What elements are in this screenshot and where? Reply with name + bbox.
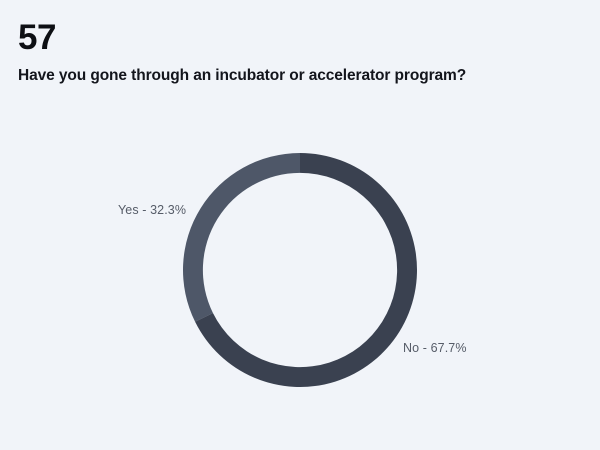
donut-chart: Yes - 32.3% No - 67.7% [0,110,600,450]
donut-slice-yes[interactable] [183,153,300,322]
slice-label-no: No - 67.7% [403,341,467,356]
slice-label-yes: Yes - 32.3% [118,203,186,218]
donut-svg [183,153,417,387]
slide-canvas: 57 Have you gone through an incubator or… [0,0,600,450]
donut-graphic [183,153,417,387]
donut-slices [183,153,417,387]
page-title: Have you gone through an incubator or ac… [18,66,466,86]
slide-number: 57 [18,18,56,58]
